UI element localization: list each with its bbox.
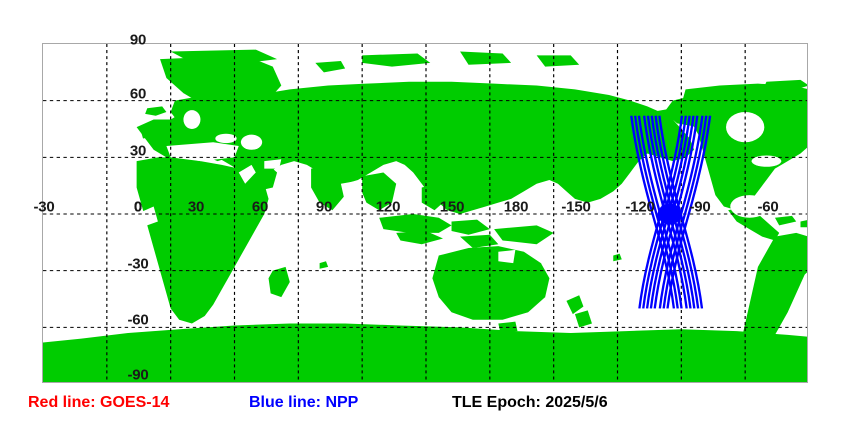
figure-legend: Red line: GOES-14 Blue line: NPP TLE Epo…: [0, 392, 850, 420]
lat-tick-30: 30: [130, 144, 146, 159]
legend-tle-epoch: TLE Epoch: 2025/5/6: [452, 392, 608, 414]
lon-tick-60: 60: [252, 200, 268, 215]
lon-tick--60: -60: [757, 200, 778, 215]
lat-tick--60: -60: [127, 313, 148, 328]
lat-tick--30: -30: [127, 257, 148, 272]
npp-position-marker: [658, 203, 682, 224]
lon-tick-150: 150: [440, 200, 464, 215]
satellite-track-figure: -30 0 30 60 90 120 150 180 -150 -120 -90…: [0, 0, 850, 425]
legend-goes14: Red line: GOES-14: [28, 392, 169, 414]
lat-tick-90: 90: [130, 33, 146, 48]
landmass-layer: [43, 50, 807, 382]
lat-tick-60: 60: [130, 87, 146, 102]
lat-tick-0: 0: [134, 200, 142, 215]
lon-tick-90: 90: [316, 200, 332, 215]
lon-tick-30: 30: [188, 200, 204, 215]
legend-npp: Blue line: NPP: [249, 392, 358, 414]
lon-tick--90: -90: [689, 200, 710, 215]
lon-tick--120: -120: [625, 200, 654, 215]
lon-tick--30: -30: [33, 200, 54, 215]
lon-tick--150: -150: [561, 200, 590, 215]
lat-tick--90: -90: [127, 368, 148, 383]
lon-tick-180: 180: [504, 200, 528, 215]
lon-tick-120: 120: [376, 200, 400, 215]
